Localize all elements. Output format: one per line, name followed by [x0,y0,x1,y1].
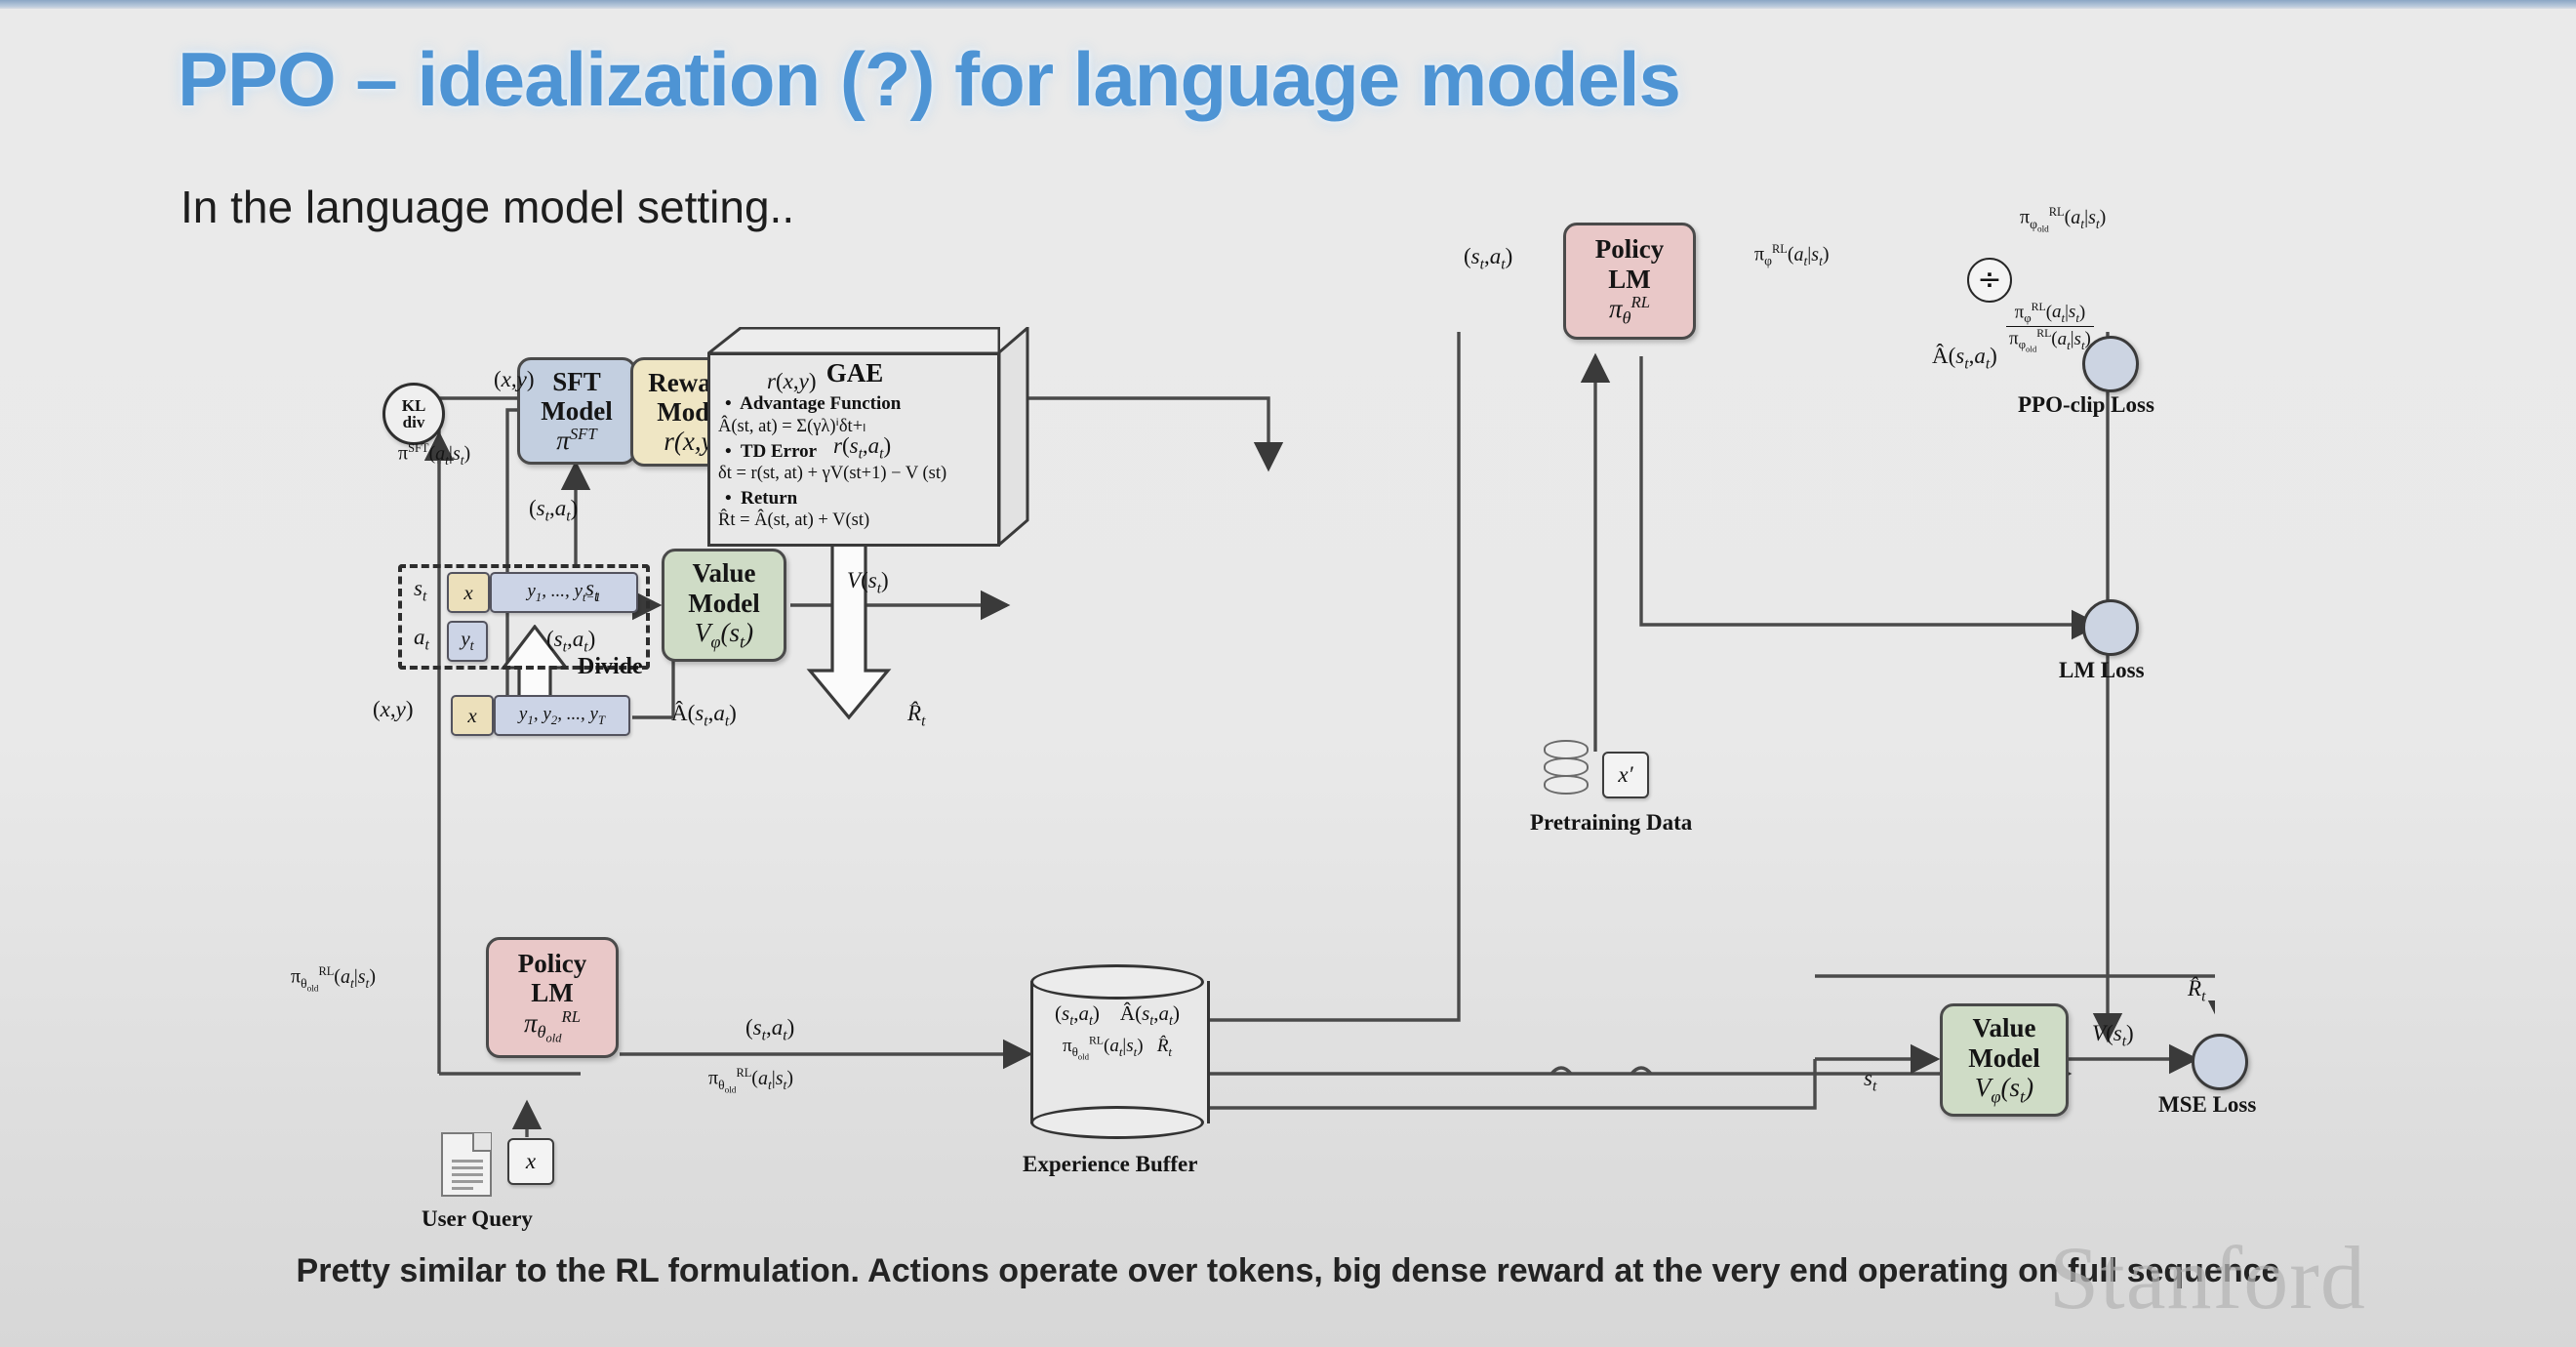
experience-buffer-top-cap [1030,964,1204,1000]
divide-operator-node[interactable]: ÷ [1967,258,2012,303]
sft-model-symbol: πSFT [556,426,596,455]
sft-model-subtitle: Model [541,396,613,426]
pretraining-token-box[interactable]: x′ [1602,752,1649,798]
value-model-top-subtitle: Model [688,589,760,618]
edge-label-policyold-to-kl: πθoldRL(at|st) [291,964,376,993]
policy-lm-new-symbol: πθRL [1609,294,1650,328]
kl-div-line1: KL [402,397,426,414]
edge-label-st-to-value-bottom: st [1864,1066,1876,1096]
stanford-watermark: Stanford [2049,1226,2366,1329]
value-model-bottom-title: Value [1972,1013,2035,1042]
sft-model-node[interactable]: SFT Model πSFT [517,357,636,465]
experience-buffer-content: (st,at) Â(st,at) πθoldRL(at|st) R̂t [1030,998,1204,1064]
gae-equation-td-error: δt = r(st, at) + γV(st+1) − V (st) [718,464,992,484]
edge-label-st-to-value-top: st [585,576,598,606]
policy-lm-new-subtitle: LM [1608,265,1651,294]
action-symbol-label: at [414,625,429,655]
edge-label-sft-to-kl: πSFT(at|st) [398,441,470,469]
policy-lm-old-subtitle: LM [531,978,574,1007]
mse-loss-node[interactable] [2192,1034,2248,1090]
mse-loss-label: MSE Loss [2158,1092,2256,1118]
edge-label-policy-old-ratio-top: πφoldRL(at|st) [2020,205,2106,233]
user-query-token-label: x [526,1149,536,1174]
ppo-language-model-diagram: KL div SFT Model πSFT Reward Model r(x,y… [410,332,2215,1191]
edge-label-sum-out: r(st,at) [833,433,891,464]
full-sequence-input-label: (x,y) [373,697,414,722]
edge-label-advantage-ppoclip: Â(st,at) [1932,344,1997,374]
policy-lm-new-node[interactable]: Policy LM πθRL [1563,223,1696,340]
full-sequence-strip: x y1, y2, ..., yT [451,695,630,736]
pretraining-token-label: x′ [1618,762,1632,788]
gae-bullet-return: • Return [725,488,992,510]
gae-bullet-advantage: • Advantage Function [725,393,992,415]
user-query-icon [441,1132,492,1197]
experience-buffer-label: Experience Buffer [1023,1152,1197,1177]
policy-lm-old-symbol: πθoldRL [524,1008,581,1046]
full-sequence-token-x: x [451,695,494,736]
edge-label-buffer-to-policy: (st,at) [1464,244,1512,274]
state-token-x: x [447,572,490,613]
ratio-denominator: πφoldRL(at|st) [2006,327,2094,355]
edge-label-return-down: R̂t [907,701,925,731]
state-symbol-label: st [414,576,426,606]
buffer-row1-col1: (st,at) [1055,1001,1100,1025]
slide-subtitle: In the language model setting.. [181,181,1742,233]
edge-label-value-out-bottom: V(st) [2092,1021,2134,1051]
action-token-yt: yt [447,621,488,662]
divide-operator-glyph: ÷ [1977,265,2001,295]
gae-title: GAE [717,358,992,388]
gae-box-side-face [998,327,1029,547]
action-token-strip: yt [447,621,488,662]
experience-buffer-node[interactable]: (st,at) Â(st,at) πθoldRL(at|st) R̂t [1030,964,1204,1140]
policy-lm-new-title: Policy [1595,234,1664,264]
kl-div-line2: div [403,414,425,430]
top-accent-strip [0,0,2576,9]
edge-label-return-to-mse: R̂t [2188,976,2205,1006]
edge-label-advantage-down: Â(st,at) [671,701,737,731]
lm-loss-node[interactable] [2082,599,2139,656]
policy-lm-old-node[interactable]: Policy LM πθoldRL [486,937,619,1058]
edge-label-reward-out: r(x,y) [767,369,816,394]
edge-label-ratio-fraction: πφRL(at|st) πφoldRL(at|st) [2006,301,2094,355]
full-sequence-token-y: y1, y2, ..., yT [494,695,630,736]
edge-label-value-out-top: V(st) [847,568,889,598]
edge-label-states-to-sft: (st,at) [529,496,578,526]
state-action-pair-label: (st,at) [546,627,595,657]
buffer-row1-col2: Â(st,at) [1120,1001,1180,1025]
value-model-top-symbol: Vφ(st) [695,618,753,652]
edge-label-rollout-policy-old: πθoldRL(at|st) [708,1066,793,1094]
value-model-top-node[interactable]: Value Model Vφ(st) [662,549,786,662]
value-model-bottom-subtitle: Model [1968,1043,2040,1073]
value-model-bottom-node[interactable]: Value Model Vφ(st) [1940,1003,2069,1117]
edge-label-rollout-state-action: (st,at) [745,1015,794,1045]
edge-label-policy-new-out: πφRL(at|st) [1754,242,1830,269]
user-query-token-box[interactable]: x [507,1138,554,1185]
state-token-strip: x y1, ..., yt−1 [447,572,638,613]
ratio-numerator: πφRL(at|st) [2006,301,2094,327]
buffer-row2-col1: πθoldRL(at|st) [1063,1036,1144,1056]
slide-title: PPO – idealization (?) for language mode… [178,35,2129,124]
kl-divergence-node[interactable]: KL div [382,383,445,445]
value-model-top-title: Value [692,558,755,588]
experience-buffer-bottom-cap [1030,1106,1204,1139]
buffer-row2-col2: R̂t [1157,1036,1172,1056]
pretraining-data-label: Pretraining Data [1530,810,1692,836]
sft-model-title: SFT [552,367,601,396]
lm-loss-label: LM Loss [2059,658,2145,683]
edge-label-xy-to-reward: (x,y) [494,367,535,392]
state-token-prefix: y1, ..., yt−1 [490,572,638,613]
user-query-label: User Query [422,1206,533,1232]
gae-box-top-face [707,327,1000,354]
value-model-bottom-symbol: Vφ(st) [1975,1073,2033,1107]
pretraining-data-icon [1544,740,1589,795]
gae-equation-return: R̂t = Â(st, at) + V(st) [718,510,992,531]
ppo-clip-loss-label: PPO-clip Loss [2018,392,2154,418]
policy-lm-old-title: Policy [518,949,586,978]
divide-label: Divide [578,654,643,680]
